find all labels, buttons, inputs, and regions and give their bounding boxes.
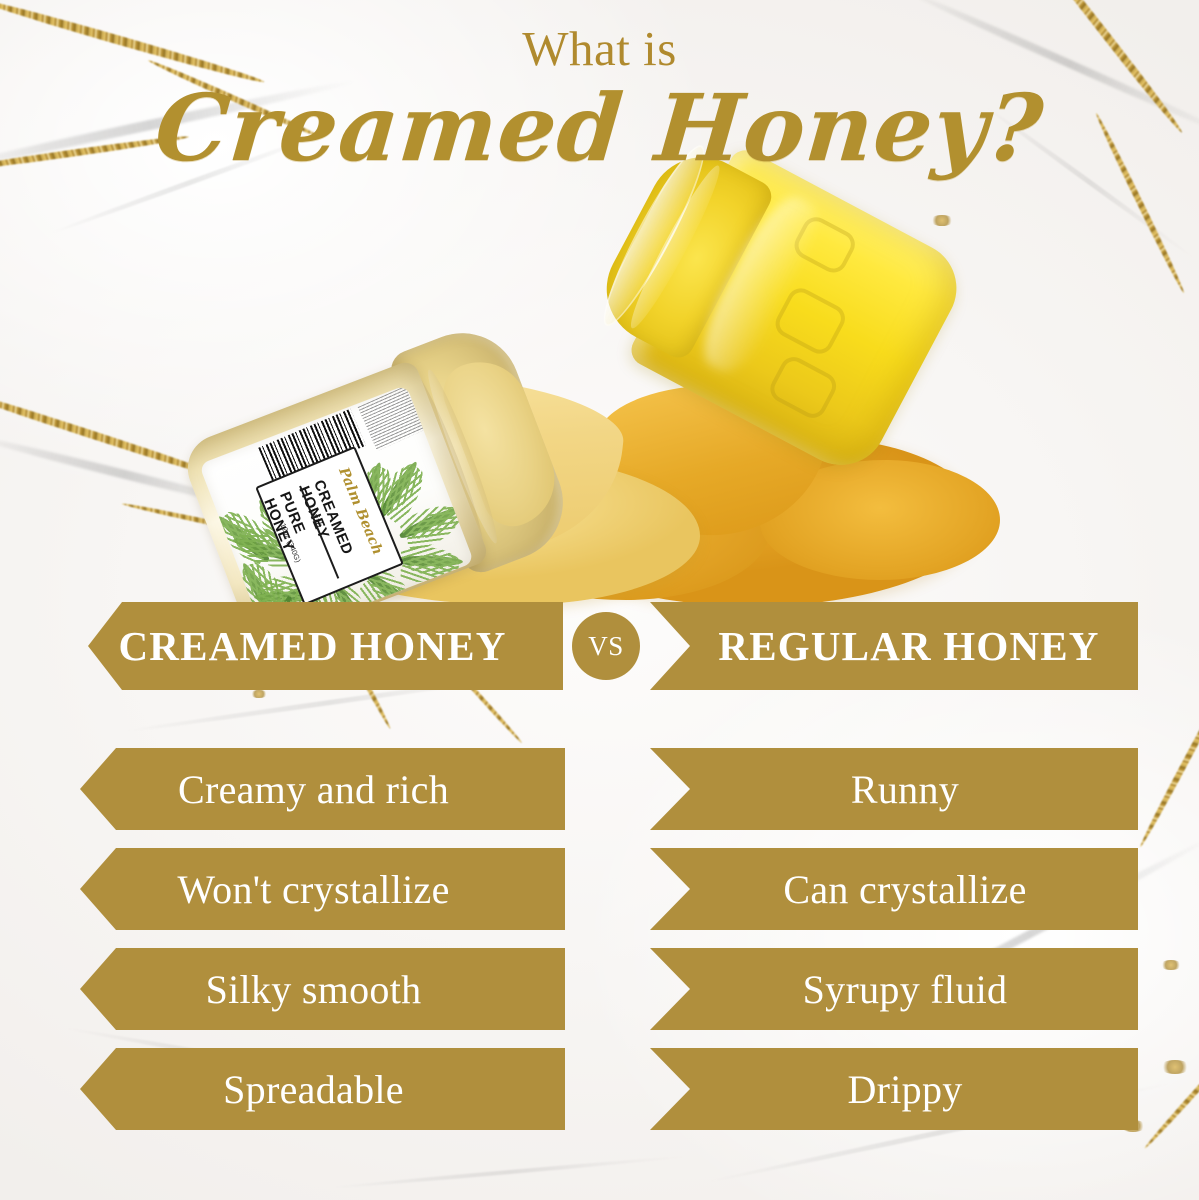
table-row: Silky smooth Syrupy fluid bbox=[0, 948, 1199, 1048]
cell-creamed-4[interactable]: Spreadable bbox=[80, 1048, 565, 1130]
title-block: What is Creamed Honey? bbox=[0, 24, 1199, 178]
header-label-creamed-honey: CREAMED HONEY bbox=[118, 622, 532, 670]
header-banner-creamed-honey[interactable]: CREAMED HONEY bbox=[88, 602, 563, 690]
nutrition-fineprint bbox=[358, 386, 425, 451]
table-row: Creamy and rich Runny bbox=[0, 748, 1199, 848]
title-line-2: Creamed Honey? bbox=[0, 79, 1199, 178]
vs-label: VS bbox=[588, 631, 624, 662]
cell-regular-1[interactable]: Runny bbox=[650, 748, 1138, 830]
cell-creamed-3[interactable]: Silky smooth bbox=[80, 948, 565, 1030]
cell-regular-2[interactable]: Can crystallize bbox=[650, 848, 1138, 930]
title-line-1: What is bbox=[0, 24, 1199, 73]
comparison-rows: Creamy and rich Runny Won't crystallize … bbox=[0, 748, 1199, 1148]
cell-creamed-1[interactable]: Creamy and rich bbox=[80, 748, 565, 830]
table-row: Spreadable Drippy bbox=[0, 1048, 1199, 1148]
cell-regular-3[interactable]: Syrupy fluid bbox=[650, 948, 1138, 1030]
comparison-header-row: CREAMED HONEY VS REGULAR HONEY bbox=[0, 598, 1199, 694]
product-photo: Palm Beach CREAMED HONEY with PURE HONEY bbox=[0, 170, 1199, 600]
table-row: Won't crystallize Can crystallize bbox=[0, 848, 1199, 948]
cell-regular-4[interactable]: Drippy bbox=[650, 1048, 1138, 1130]
vs-badge: VS bbox=[572, 612, 640, 680]
poster-canvas: What is Creamed Honey? bbox=[0, 0, 1199, 1200]
header-banner-regular-honey[interactable]: REGULAR HONEY bbox=[650, 602, 1138, 690]
cell-creamed-2[interactable]: Won't crystallize bbox=[80, 848, 565, 930]
header-label-regular-honey: REGULAR HONEY bbox=[688, 622, 1099, 670]
comparison-table: CREAMED HONEY VS REGULAR HONEY Creamy an… bbox=[0, 598, 1199, 1148]
